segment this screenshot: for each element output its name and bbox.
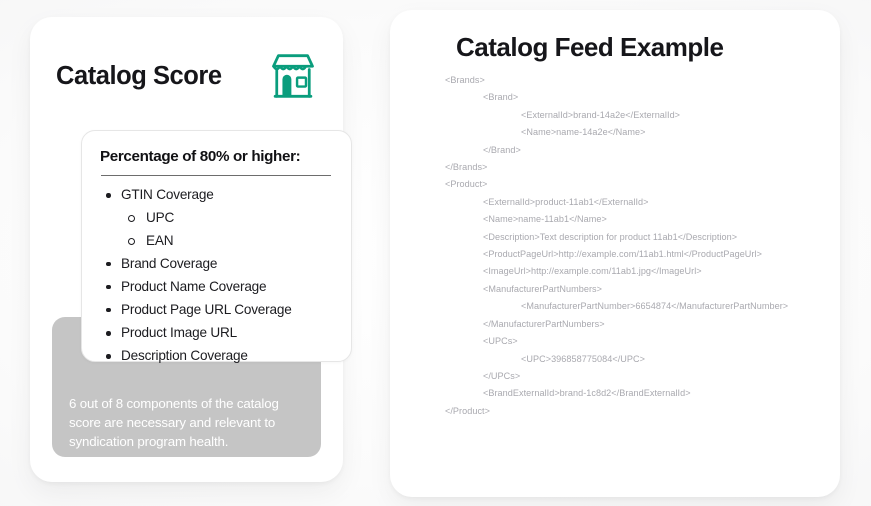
xml-line: <ExternalId>product-11ab1</ExternalId> [445, 194, 832, 211]
xml-line: </UPCs> [445, 368, 832, 385]
list-item: Product Name Coverage [100, 280, 337, 294]
list-item-label: Description Coverage [121, 348, 248, 363]
slide-stage: Catalog Score 6 out of 8 components o [0, 0, 871, 506]
xml-line: </Brands> [445, 159, 832, 176]
xml-line: </Product> [445, 403, 832, 420]
coverage-component-list: GTIN CoverageUPCEANBrand CoverageProduct… [100, 188, 337, 363]
list-item: Product Page URL Coverage [100, 303, 337, 317]
xml-line: <Product> [445, 176, 832, 193]
list-item: Product Image URL [100, 326, 337, 340]
list-item: Description Coverage [100, 349, 337, 363]
xml-line: <Name>name-14a2e</Name> [445, 124, 832, 141]
xml-line: <Name>name-11ab1</Name> [445, 211, 832, 228]
storefront-icon [267, 50, 319, 102]
xml-line: <ProductPageUrl>http://example.com/11ab1… [445, 246, 832, 263]
catalog-feed-card: Catalog Feed Example <Brands><Brand><Ext… [390, 10, 840, 497]
xml-line: <BrandExternalId>brand-1c8d2</BrandExter… [445, 385, 832, 402]
xml-line: </Brand> [445, 142, 832, 159]
xml-line: <Brand> [445, 89, 832, 106]
catalog-score-note-text: 6 out of 8 components of the catalog sco… [69, 395, 306, 452]
xml-line: <UPC>396858775084</UPC> [445, 351, 832, 368]
list-item-label: Product Name Coverage [121, 279, 266, 294]
threshold-panel: Percentage of 80% or higher: GTIN Covera… [81, 130, 352, 362]
xml-line: <UPCs> [445, 333, 832, 350]
catalog-score-card: Catalog Score 6 out of 8 components o [30, 17, 343, 482]
xml-line: <Description>Text description for produc… [445, 229, 832, 246]
threshold-panel-heading: Percentage of 80% or higher: [100, 148, 337, 165]
xml-line: </ManufacturerPartNumbers> [445, 316, 832, 333]
list-item-label: Brand Coverage [121, 256, 217, 271]
xml-line: <ManufacturerPartNumber>6654874</Manufac… [445, 298, 832, 315]
xml-line: <Brands> [445, 72, 832, 89]
xml-line: <ManufacturerPartNumbers> [445, 281, 832, 298]
xml-line: <ExternalId>brand-14a2e</ExternalId> [445, 107, 832, 124]
catalog-feed-xml: <Brands><Brand><ExternalId>brand-14a2e</… [445, 72, 832, 420]
xml-line: <ImageUrl>http://example.com/11ab1.jpg</… [445, 263, 832, 280]
list-item: GTIN CoverageUPCEAN [100, 188, 337, 247]
list-item-label: Product Image URL [121, 325, 237, 340]
sub-list-item: EAN [121, 234, 337, 248]
list-item: Brand Coverage [100, 257, 337, 271]
catalog-score-header: Catalog Score [56, 45, 323, 107]
coverage-sub-list: UPCEAN [121, 211, 337, 248]
list-item-label: Product Page URL Coverage [121, 302, 292, 317]
list-item-label: GTIN Coverage [121, 187, 214, 202]
sub-list-item: UPC [121, 211, 337, 225]
page-title: Catalog Score [56, 62, 222, 90]
panel-divider [101, 175, 331, 176]
catalog-feed-title: Catalog Feed Example [456, 32, 723, 63]
